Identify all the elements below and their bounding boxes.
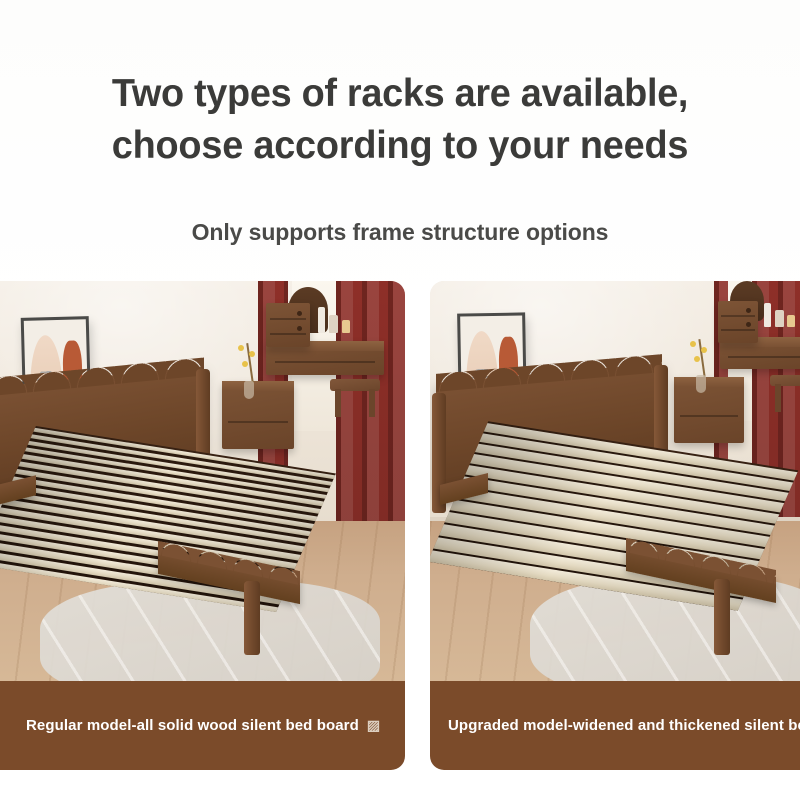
stool-leg-left <box>335 389 341 417</box>
caption-text-upgraded: Upgraded model-widened and thickened sil… <box>448 717 800 734</box>
flower-bud-1 <box>238 345 244 351</box>
tower-drawer-line-1 <box>721 315 755 317</box>
flower-bud-2 <box>701 347 707 353</box>
tower-drawer-line-2 <box>270 333 307 335</box>
tower-knob-2 <box>297 326 302 331</box>
tower-drawer-line-1 <box>270 318 307 320</box>
stool-leg-left <box>775 384 781 412</box>
flower-bud-1 <box>690 341 696 347</box>
flower-bud-3 <box>694 356 700 362</box>
nightstand-drawer-line <box>680 415 739 417</box>
vanity-stool <box>770 375 800 386</box>
vanity-drawer-line <box>728 356 800 358</box>
heading-block: Two types of racks are available, choose… <box>0 68 800 172</box>
caption-bar-regular[interactable]: Regular model-all solid wood silent bed … <box>0 681 405 770</box>
bottle-mid <box>775 310 784 327</box>
footboard-post <box>714 579 730 655</box>
vanity-drawer-tower <box>718 301 758 343</box>
footboard-post <box>244 581 260 655</box>
caption-text-regular: Regular model-all solid wood silent bed … <box>26 717 359 734</box>
flower-bud-3 <box>242 361 248 367</box>
vase-body <box>696 375 705 393</box>
tower-knob-1 <box>297 311 302 316</box>
vanity-drawer-line <box>275 361 374 363</box>
bedroom-scene-upgraded <box>430 281 800 681</box>
caption-badge-icon: ▨ <box>367 717 380 734</box>
flower-bud-2 <box>249 351 255 357</box>
bottle-tall <box>318 307 325 333</box>
tower-knob-2 <box>746 322 751 327</box>
page-headline-line2: choose according to your needs <box>12 120 788 172</box>
nightstand <box>222 381 294 449</box>
panel-upgraded-model[interactable] <box>430 281 800 681</box>
vanity-stool <box>330 379 380 391</box>
comparison-panels <box>0 281 800 681</box>
bottle-short <box>342 320 350 333</box>
vase-body <box>244 381 253 399</box>
vanity-bottles <box>316 305 356 333</box>
panel-regular-model[interactable] <box>0 281 405 681</box>
stool-leg-right <box>369 389 375 417</box>
bottle-tall <box>764 303 771 327</box>
page-subtitle: Only supports frame structure options <box>0 219 800 246</box>
vanity-drawer-tower <box>266 303 310 347</box>
nightstand-top <box>674 377 744 387</box>
page-headline-line1: Two types of racks are available, <box>12 68 788 120</box>
bottle-short <box>787 315 795 327</box>
bottle-mid <box>329 315 338 333</box>
nightstand <box>674 377 744 443</box>
vanity-bottles <box>762 301 800 327</box>
dried-flower-vase <box>236 343 262 383</box>
marketing-page: Two types of racks are available, choose… <box>0 0 800 800</box>
tower-knob-1 <box>746 308 751 313</box>
caption-bar-upgraded[interactable]: Upgraded model-widened and thickened sil… <box>430 681 800 770</box>
bedroom-scene-regular <box>0 281 405 681</box>
tower-drawer-line-2 <box>721 329 755 331</box>
dried-flower-vase <box>688 339 714 377</box>
nightstand-drawer-line <box>228 421 289 423</box>
